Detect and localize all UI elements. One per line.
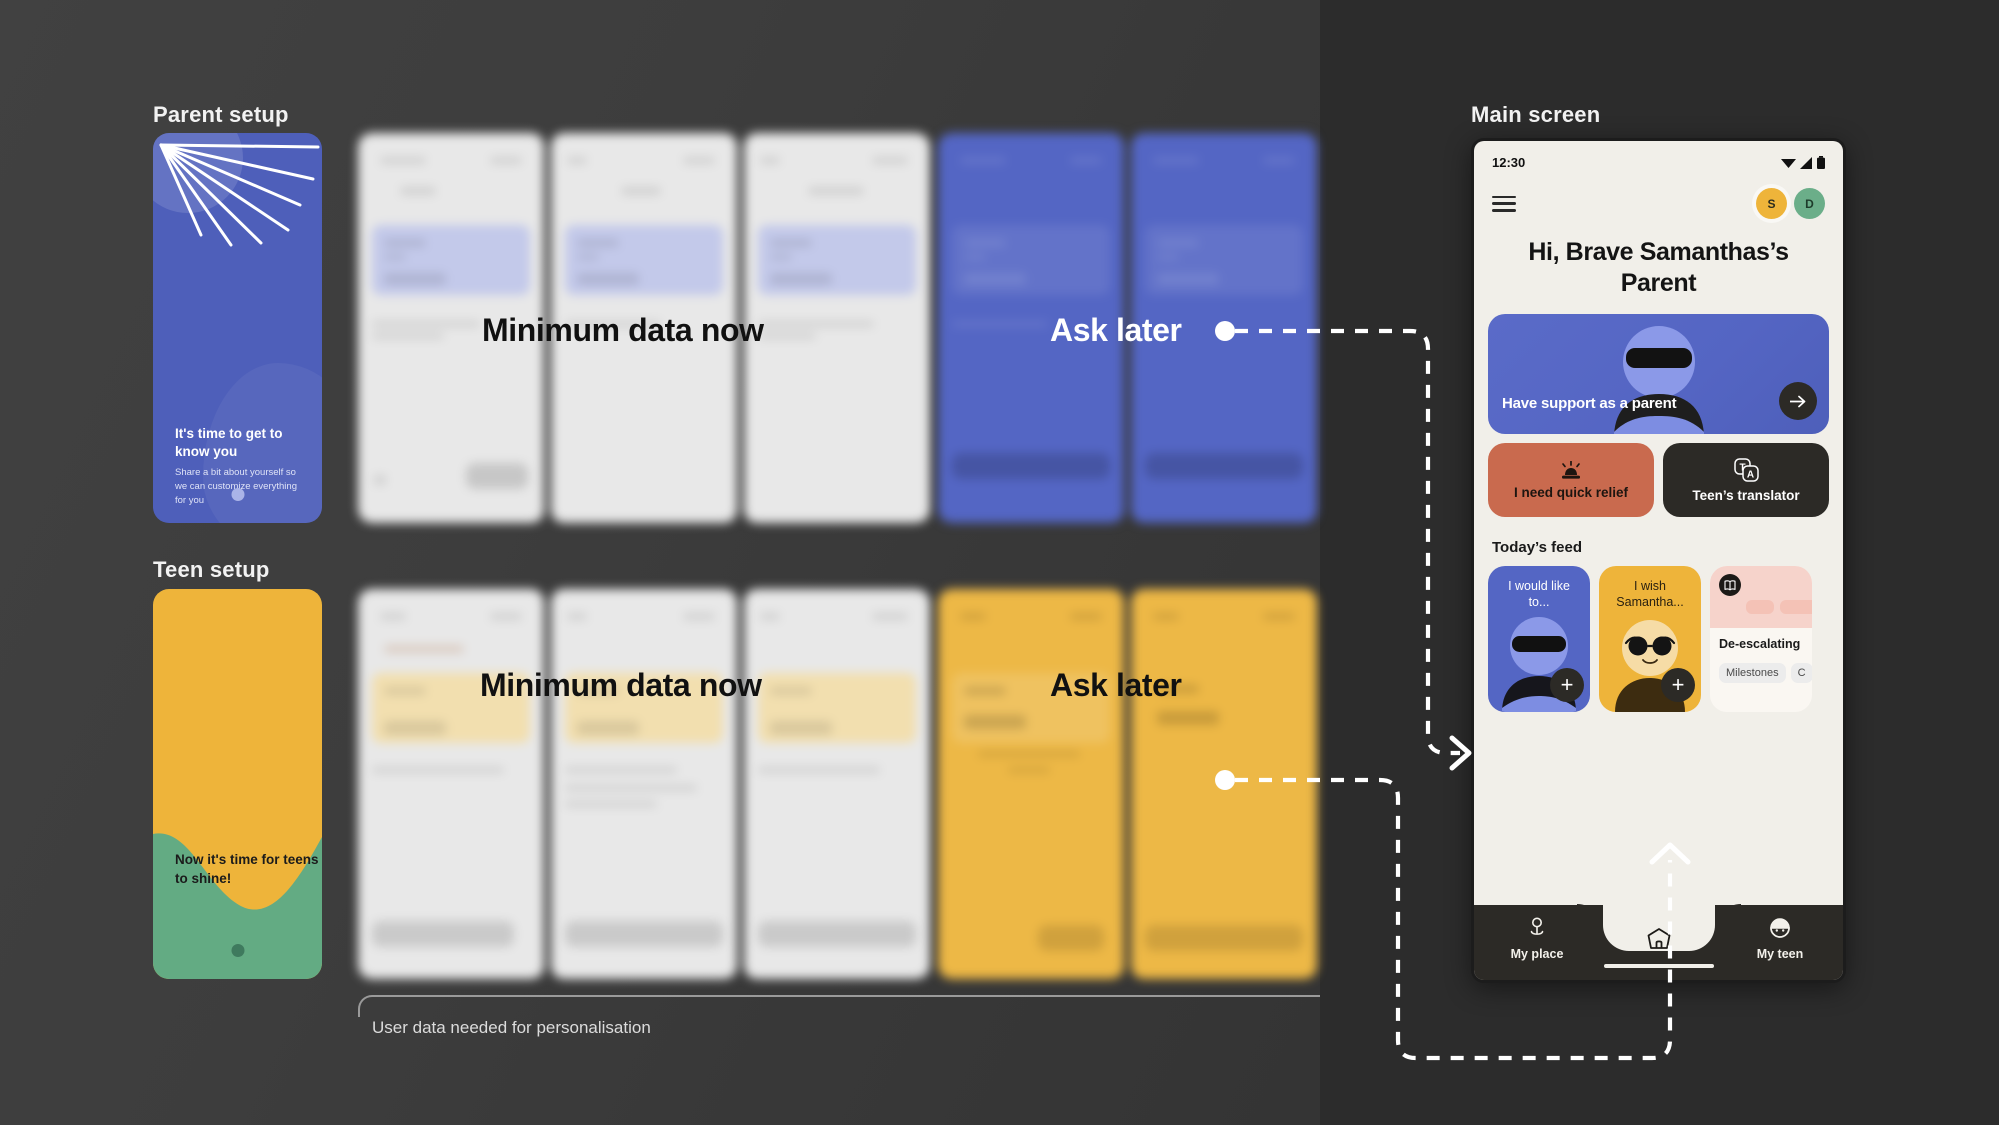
teen-ask-later-flow-group[interactable] [938, 589, 1320, 979]
avatar[interactable]: S [1756, 188, 1787, 219]
battery-icon [1817, 156, 1825, 169]
feed-article-card[interactable]: De-escalating Milestones C [1710, 566, 1812, 712]
support-card-label: Have support as a parent [1502, 395, 1676, 412]
signal-icon [1800, 157, 1813, 169]
home-icon-glyph [1646, 927, 1672, 952]
quick-action-translator-label: Teen’s translator [1692, 488, 1799, 503]
status-time: 12:30 [1492, 155, 1525, 170]
phone-mockup: 12:30 [1471, 138, 1846, 983]
flow-screen [551, 589, 737, 979]
status-bar: 12:30 [1474, 141, 1843, 172]
article-chip[interactable]: Milestones [1719, 663, 1786, 683]
article-chips: Milestones C [1719, 663, 1812, 683]
nav-item-my-teen[interactable]: My teen [1735, 917, 1825, 961]
quick-action-translator[interactable]: T A Teen’s translator [1663, 443, 1829, 517]
page-title: Hi, Brave Samanthas’s Parent [1500, 237, 1817, 298]
book-glyph [1724, 580, 1736, 591]
parent-ask-later-label: Ask later [1050, 312, 1182, 349]
flow-screen [938, 589, 1124, 979]
teen-minimum-data-label: Minimum data now [480, 667, 762, 704]
feed-card-caption: I wish Samantha... [1599, 578, 1701, 610]
nav-item-home[interactable] [1646, 927, 1672, 957]
parent-hero-title: It's time to get to know you [175, 425, 305, 461]
avatar[interactable]: D [1794, 188, 1825, 219]
teen-ask-later-connector-node [1215, 770, 1235, 790]
flow-screen [744, 133, 930, 523]
book-icon [1719, 574, 1741, 596]
section-label-teen-setup: Teen setup [153, 557, 270, 583]
quick-actions-row: I need quick relief T A Teen’s translato… [1488, 443, 1829, 517]
parent-hero-card[interactable]: It's time to get to know you Share a bit… [153, 133, 322, 523]
svg-text:A: A [1746, 469, 1753, 480]
article-placeholder [1780, 600, 1812, 614]
arrow-right-glyph [1790, 395, 1807, 408]
quick-action-relief-label: I need quick relief [1514, 485, 1628, 500]
teen-ask-later-label: Ask later [1050, 667, 1182, 704]
feed-carousel[interactable]: I would like to... + I wish Samantha... [1488, 566, 1843, 712]
sun-rays-icon [153, 133, 322, 333]
parent-hero-page-dot [231, 488, 244, 501]
quick-action-relief[interactable]: I need quick relief [1488, 443, 1654, 517]
parent-ask-later-connector-node [1215, 321, 1235, 341]
article-placeholder [1746, 600, 1774, 614]
nav-item-my-place[interactable]: My place [1492, 917, 1582, 961]
parent-avatar-illustration [1584, 322, 1734, 434]
phone-screen: 12:30 [1474, 141, 1843, 980]
status-icons [1781, 156, 1825, 169]
teen-hero-page-dot [231, 944, 244, 957]
feed-card[interactable]: I wish Samantha... + [1599, 566, 1701, 712]
nav-item-label: My teen [1735, 947, 1825, 961]
section-label-main-screen: Main screen [1471, 102, 1600, 128]
parent-minimum-data-label: Minimum data now [482, 312, 764, 349]
hamburger-icon[interactable] [1492, 196, 1516, 212]
section-label-parent-setup: Parent setup [153, 102, 289, 128]
avatar-group: S D [1756, 188, 1825, 219]
caption-bracket [358, 995, 1320, 1017]
canvas: Parent setup It's time to get to know yo… [0, 0, 1999, 1125]
plus-icon[interactable]: + [1550, 668, 1584, 702]
teen-hero-card[interactable]: Now it's time for teens to shine! [153, 589, 322, 979]
article-cover [1710, 566, 1812, 628]
parent-hero-subtitle: Share a bit about yourself so we can cus… [175, 466, 310, 507]
arrow-right-icon[interactable] [1779, 382, 1817, 420]
article-chip[interactable]: C [1791, 663, 1812, 683]
feed-section-title: Today’s feed [1492, 539, 1843, 556]
wifi-icon [1781, 157, 1796, 169]
flow-screen [358, 589, 544, 979]
support-card[interactable]: Have support as a parent [1488, 314, 1829, 434]
bottom-navigation: My place My teen [1474, 905, 1843, 980]
location-pin-icon [1527, 917, 1547, 939]
teen-face-icon [1769, 917, 1791, 939]
siren-icon [1558, 461, 1584, 479]
caption-user-data: User data needed for personalisation [372, 1018, 651, 1038]
feed-card[interactable]: I would like to... + [1488, 566, 1590, 712]
feed-card-caption: I would like to... [1488, 578, 1590, 610]
flow-screen [744, 589, 930, 979]
teen-minimum-data-flow-group[interactable] [358, 589, 930, 979]
translate-icon: T A [1734, 458, 1759, 482]
article-title: De-escalating [1719, 637, 1812, 651]
plus-icon[interactable]: + [1661, 668, 1695, 702]
nav-item-label: My place [1492, 947, 1582, 961]
home-indicator [1604, 964, 1714, 968]
app-top-bar: S D [1474, 172, 1843, 219]
teen-hero-title: Now it's time for teens to shine! [175, 851, 320, 888]
